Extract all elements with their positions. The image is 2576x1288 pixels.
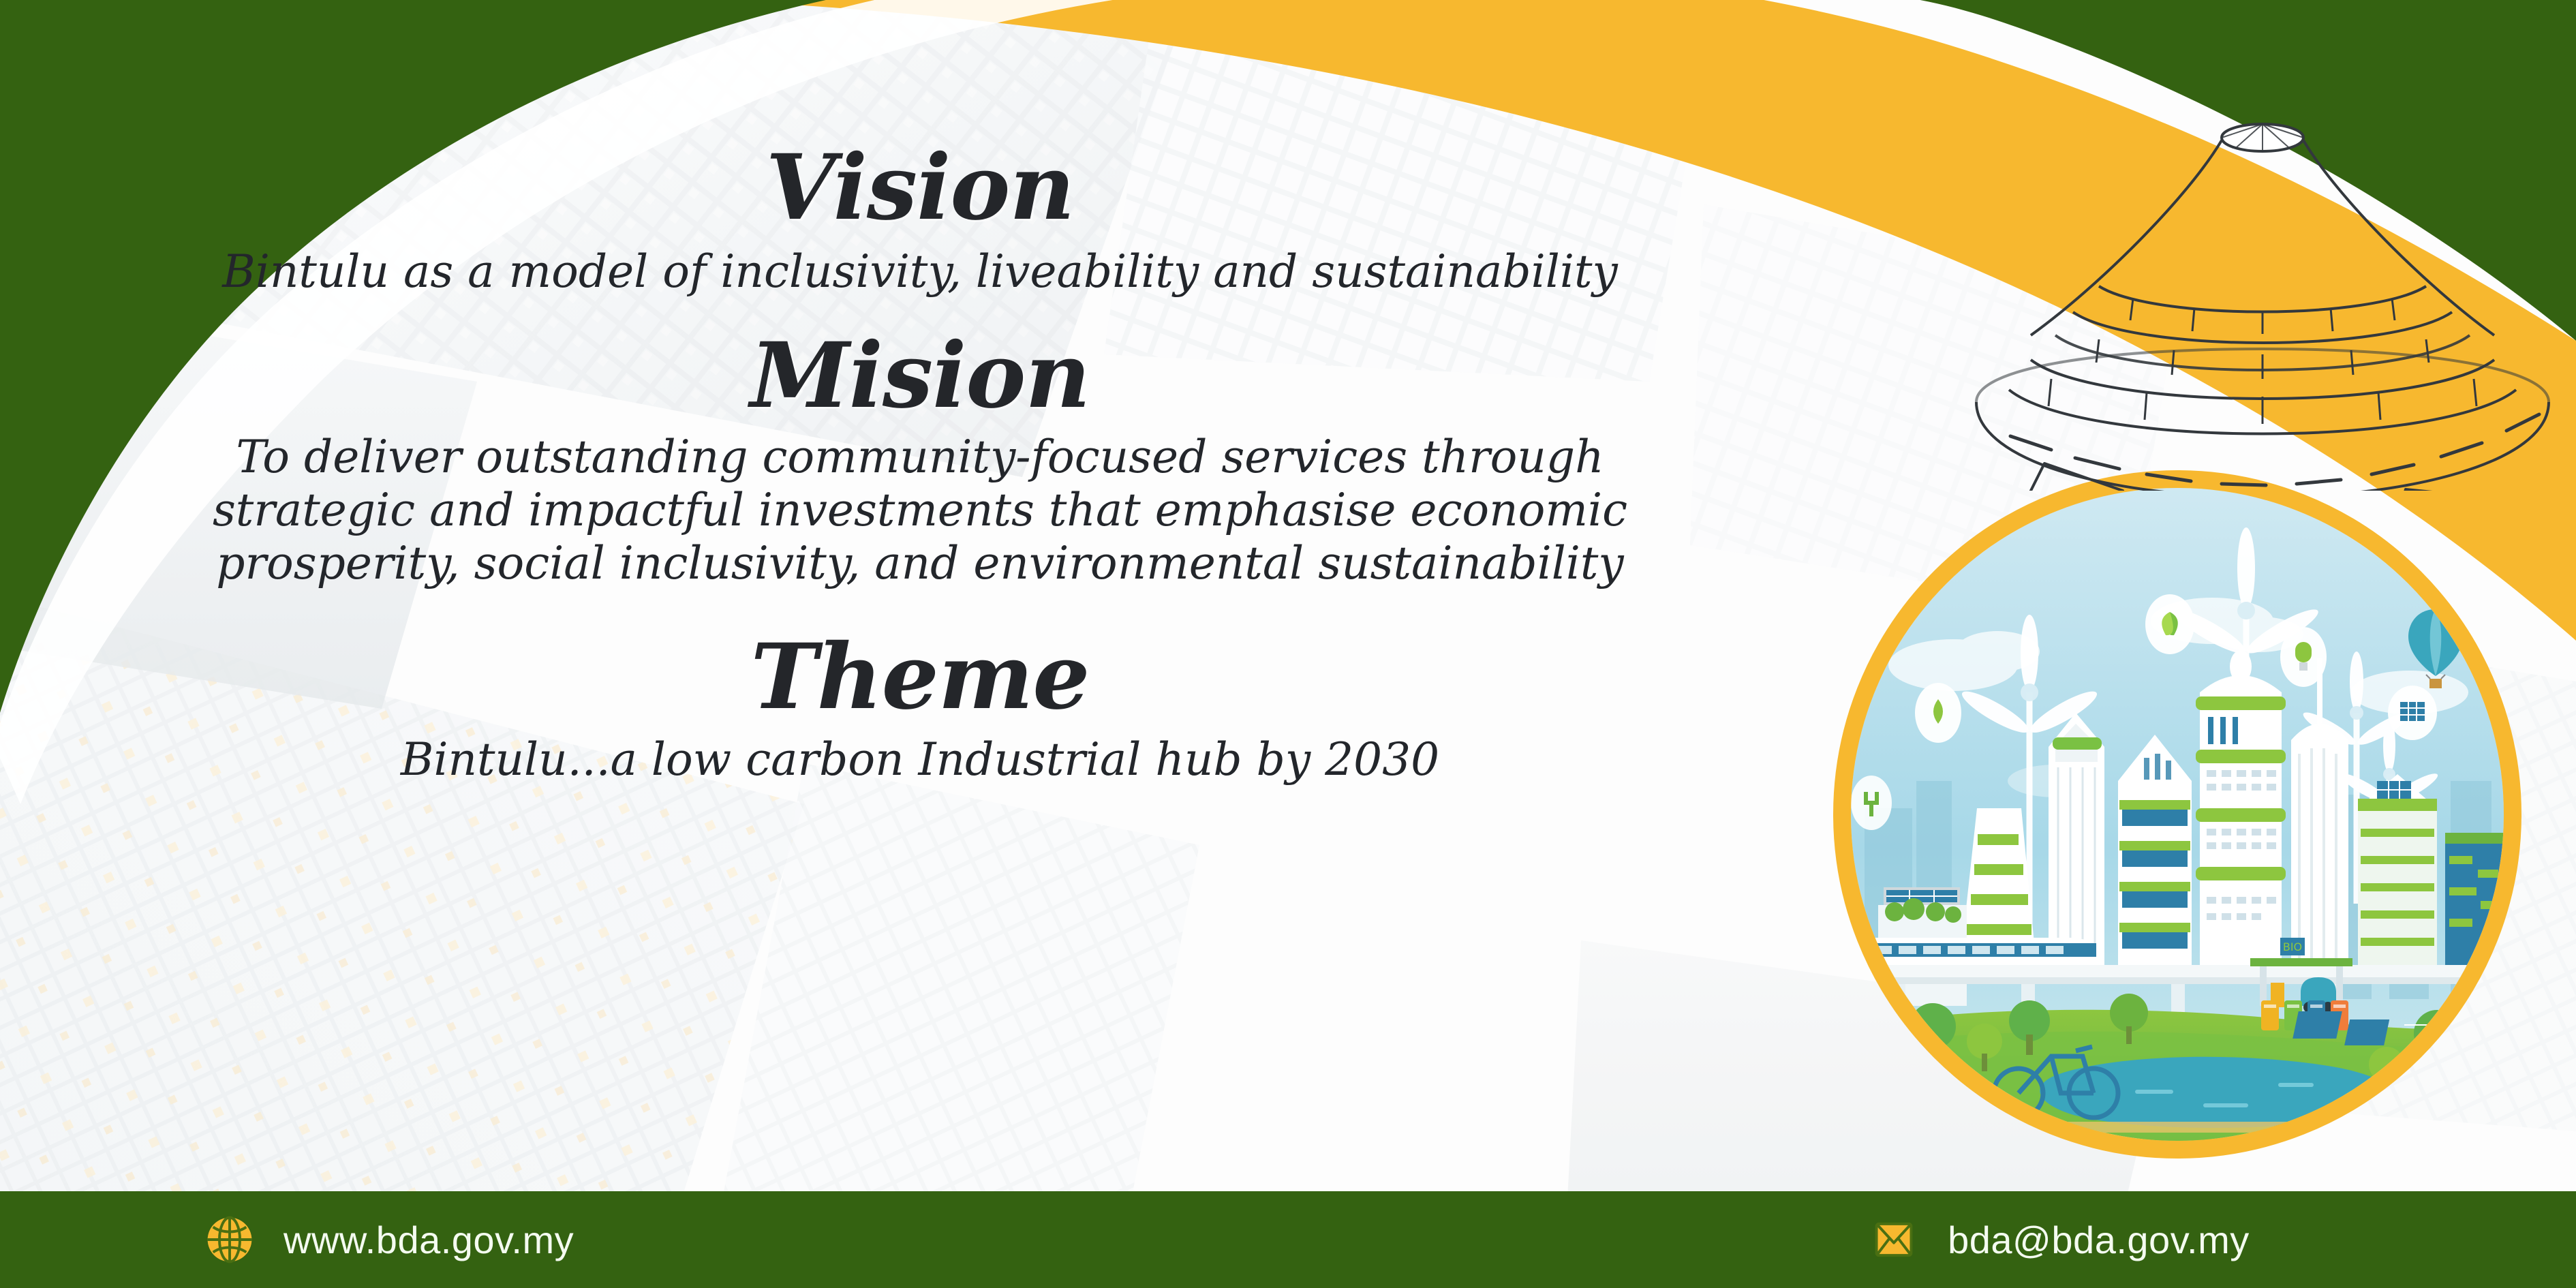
text-content: Vision Bintulu as a model of inclusivity… [0, 0, 1840, 1191]
email-label: bda@bda.gov.my [1948, 1218, 2250, 1262]
vision-heading: Vision [766, 143, 1075, 233]
eco-city-circle: BIO [1833, 470, 2521, 1159]
website-item[interactable]: www.bda.gov.my [204, 1214, 574, 1265]
theme-line-1: Bintulu...a low carbon Industrial hub by… [401, 733, 1439, 786]
envelope-icon [1869, 1214, 1919, 1265]
mission-line-1: To deliver outstanding community-focused… [236, 431, 1604, 484]
vision-line-1: Bintulu as a model of inclusivity, livea… [222, 245, 1618, 298]
mission-line-3: prosperity, social inclusivity, and envi… [216, 537, 1623, 590]
mission-section: Mision To deliver outstanding community-… [213, 331, 1627, 590]
website-label: www.bda.gov.my [283, 1218, 574, 1262]
mission-heading: Mision [750, 331, 1090, 421]
mission-body: To deliver outstanding community-focused… [213, 431, 1627, 590]
banner: BIO [0, 0, 2576, 1288]
conical-building-line-art [1929, 82, 2576, 491]
city-gold-ring [1833, 470, 2521, 1159]
email-item[interactable]: bda@bda.gov.my [1869, 1214, 2250, 1265]
mission-line-2: strategic and impactful investments that… [213, 484, 1627, 537]
footer-bar: www.bda.gov.my bda@bda.gov.my [0, 1191, 2576, 1288]
theme-section: Theme Bintulu...a low carbon Industrial … [401, 632, 1439, 786]
globe-icon [204, 1214, 255, 1265]
theme-heading: Theme [751, 632, 1090, 722]
vision-section: Vision Bintulu as a model of inclusivity… [222, 143, 1618, 298]
